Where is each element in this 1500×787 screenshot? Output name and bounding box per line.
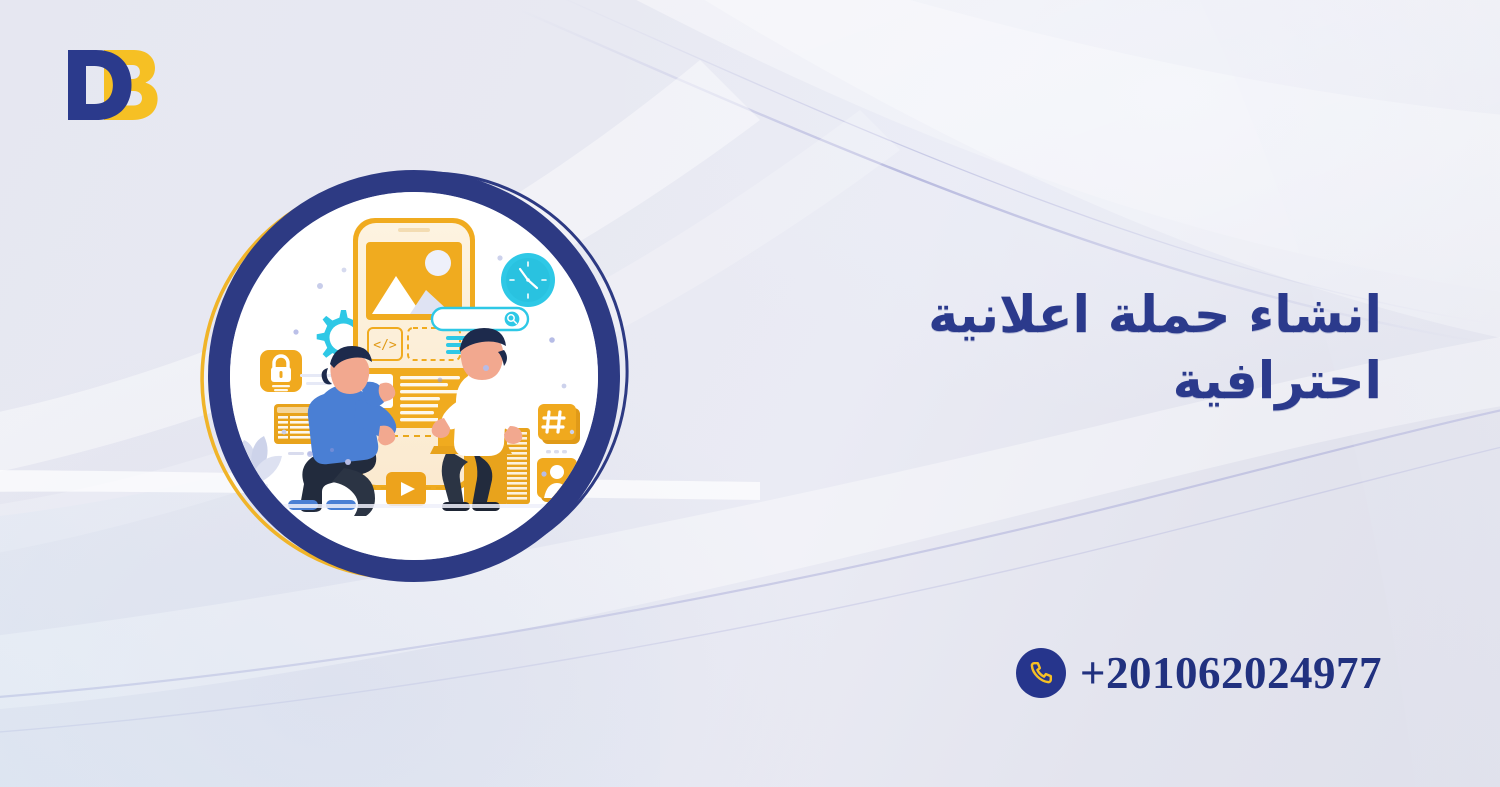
phone-icon — [1016, 648, 1066, 698]
hashtag-icon-card — [538, 404, 580, 444]
page-title: انشاء حملة اعلانية احترافية — [742, 283, 1382, 415]
lock-icon-card — [260, 350, 302, 392]
decorative-dots-right — [546, 450, 567, 453]
ad-banner: </> — [0, 0, 1500, 787]
clock-icon — [501, 253, 555, 307]
phone-number-text[interactable]: +201062024977 — [1080, 651, 1382, 696]
contact-phone[interactable]: +201062024977 — [1016, 648, 1382, 698]
search-bar[interactable] — [432, 308, 528, 330]
play-button-card — [386, 472, 426, 506]
digital-marketing-illustration: </> — [148, 132, 678, 624]
db-logo[interactable] — [60, 48, 164, 134]
headline-text: انشاء حملة اعلانية احترافية — [928, 286, 1382, 411]
logo-letter-d — [68, 50, 132, 120]
svg-text:</>: </> — [373, 338, 397, 353]
